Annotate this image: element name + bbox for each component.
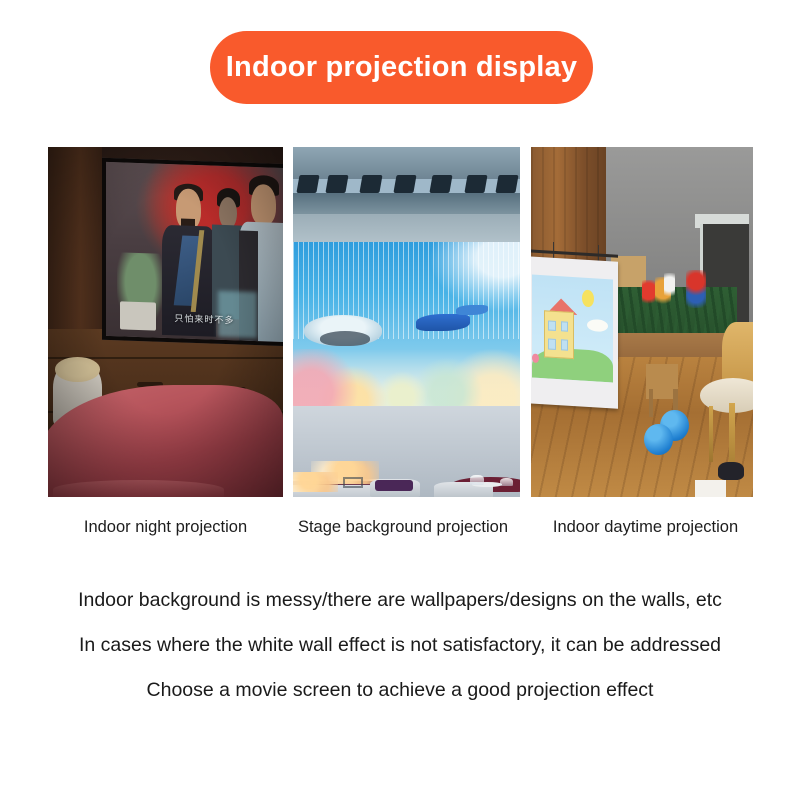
upper-wall (293, 214, 520, 246)
footer-line-2: In cases where the white wall effect is … (0, 623, 800, 668)
paper-on-floor (695, 480, 726, 498)
fish-large (416, 314, 470, 331)
photo-captions: Indoor night projection Stage background… (0, 518, 800, 546)
stage-light (326, 175, 350, 193)
light-glow (429, 242, 520, 313)
photo-indoor-daytime-projection[interactable] (531, 147, 753, 497)
projected-cartoon-image (532, 274, 612, 382)
house-window (561, 340, 568, 351)
projection-screen (531, 256, 618, 409)
daytime-lobby-scene (531, 147, 753, 497)
sun (582, 290, 594, 308)
title-banner: Indoor projection display (210, 31, 593, 104)
house-body (543, 310, 573, 359)
whale-shadow (320, 331, 370, 346)
stage-light (394, 175, 418, 193)
caption-indoor-night-projection: Indoor night projection (48, 518, 283, 537)
cloud (586, 319, 607, 333)
table-leg (729, 403, 736, 470)
photo-indoor-night-projection[interactable]: 只怕来时不多 (48, 147, 283, 497)
house-window (548, 339, 555, 350)
wine-glass (500, 478, 514, 486)
footer-description: Indoor background is messy/there are wal… (0, 578, 800, 713)
house-window (561, 321, 568, 332)
stage-light (296, 175, 320, 193)
photo-gallery: 只怕来时不多 (48, 147, 753, 497)
stage-light (496, 175, 520, 193)
coral-reef (293, 349, 520, 409)
stage-pelmet (293, 193, 520, 214)
photo-stage-background-projection[interactable] (293, 147, 520, 497)
flower (532, 353, 538, 363)
banquet-area (293, 406, 520, 497)
stage-light (430, 175, 454, 193)
projected-ocean-backdrop (293, 242, 520, 410)
sneaker (718, 462, 745, 480)
decoration-windmill (686, 270, 706, 309)
wine-glass (470, 475, 484, 485)
stage-light (360, 175, 384, 193)
lighting-truss (293, 147, 520, 179)
night-bedroom-scene: 只怕来时不多 (48, 147, 283, 497)
footer-line-3: Choose a movie screen to achieve a good … (0, 668, 800, 713)
flower-arrangement (293, 472, 338, 492)
yellow-armchair (722, 322, 753, 385)
stage-light (464, 175, 488, 193)
table-leg (709, 406, 713, 462)
footer-line-1: Indoor background is messy/there are wal… (0, 578, 800, 623)
promo-page: Indoor projection display (0, 0, 800, 800)
decoration-white (664, 273, 675, 301)
page-title: Indoor projection display (226, 53, 577, 82)
glass-vase (343, 477, 363, 488)
photo-vignette (48, 147, 283, 497)
blue-ball (644, 424, 673, 456)
caption-stage-background-projection: Stage background projection (286, 518, 520, 537)
house-window (548, 320, 555, 331)
stool-leg (649, 389, 653, 417)
decoration-red (642, 280, 655, 308)
chair-cushion (375, 480, 414, 491)
stage-scene (293, 147, 520, 497)
caption-indoor-daytime-projection: Indoor daytime projection (528, 518, 763, 537)
